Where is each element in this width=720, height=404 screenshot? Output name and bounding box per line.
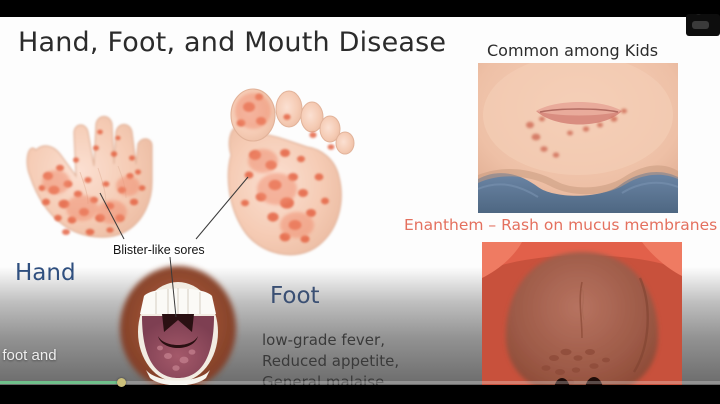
webcam-body-shape xyxy=(692,21,709,29)
open-mouth-illustration xyxy=(108,252,248,385)
webcam-head-shape xyxy=(695,14,702,15)
foot-illustration-svg xyxy=(215,77,380,272)
enanthem-label: Enanthem – Rash on mucus membranes xyxy=(404,216,717,234)
letterbox-bottom xyxy=(0,385,720,404)
hand-label: Hand xyxy=(15,260,76,286)
open-mouth-illustration-svg xyxy=(108,252,248,385)
letterbox-top xyxy=(0,0,720,17)
video-progress-bar[interactable] xyxy=(0,381,720,384)
child-face-photo xyxy=(478,63,678,213)
oral-cavity-photo-svg xyxy=(482,242,682,385)
video-progress-fill xyxy=(0,381,122,384)
presentation-slide: Hand, Foot, and Mouth Disease Blister-li… xyxy=(0,17,720,385)
symptom-item: Reduced appetite, xyxy=(262,351,399,372)
hand-illustration xyxy=(2,72,198,257)
common-among-kids-label: Common among Kids xyxy=(487,41,658,60)
slide-title: Hand, Foot, and Mouth Disease xyxy=(18,27,446,58)
symptoms-list: low-grade fever, Reduced appetite, Gener… xyxy=(262,330,399,385)
foot-illustration xyxy=(215,77,380,272)
hand-illustration-svg xyxy=(2,72,198,257)
video-player-stage: Hand, Foot, and Mouth Disease Blister-li… xyxy=(0,0,720,404)
symptom-item: low-grade fever, xyxy=(262,330,399,351)
webcam-overlay-thumbnail[interactable] xyxy=(686,14,720,36)
oral-cavity-photo xyxy=(482,242,682,385)
blister-sores-label: Blister-like sores xyxy=(112,243,206,257)
foot-label: Foot xyxy=(270,283,320,309)
child-face-photo-svg xyxy=(478,63,678,213)
caption-left-fragment: , foot and xyxy=(0,347,57,364)
